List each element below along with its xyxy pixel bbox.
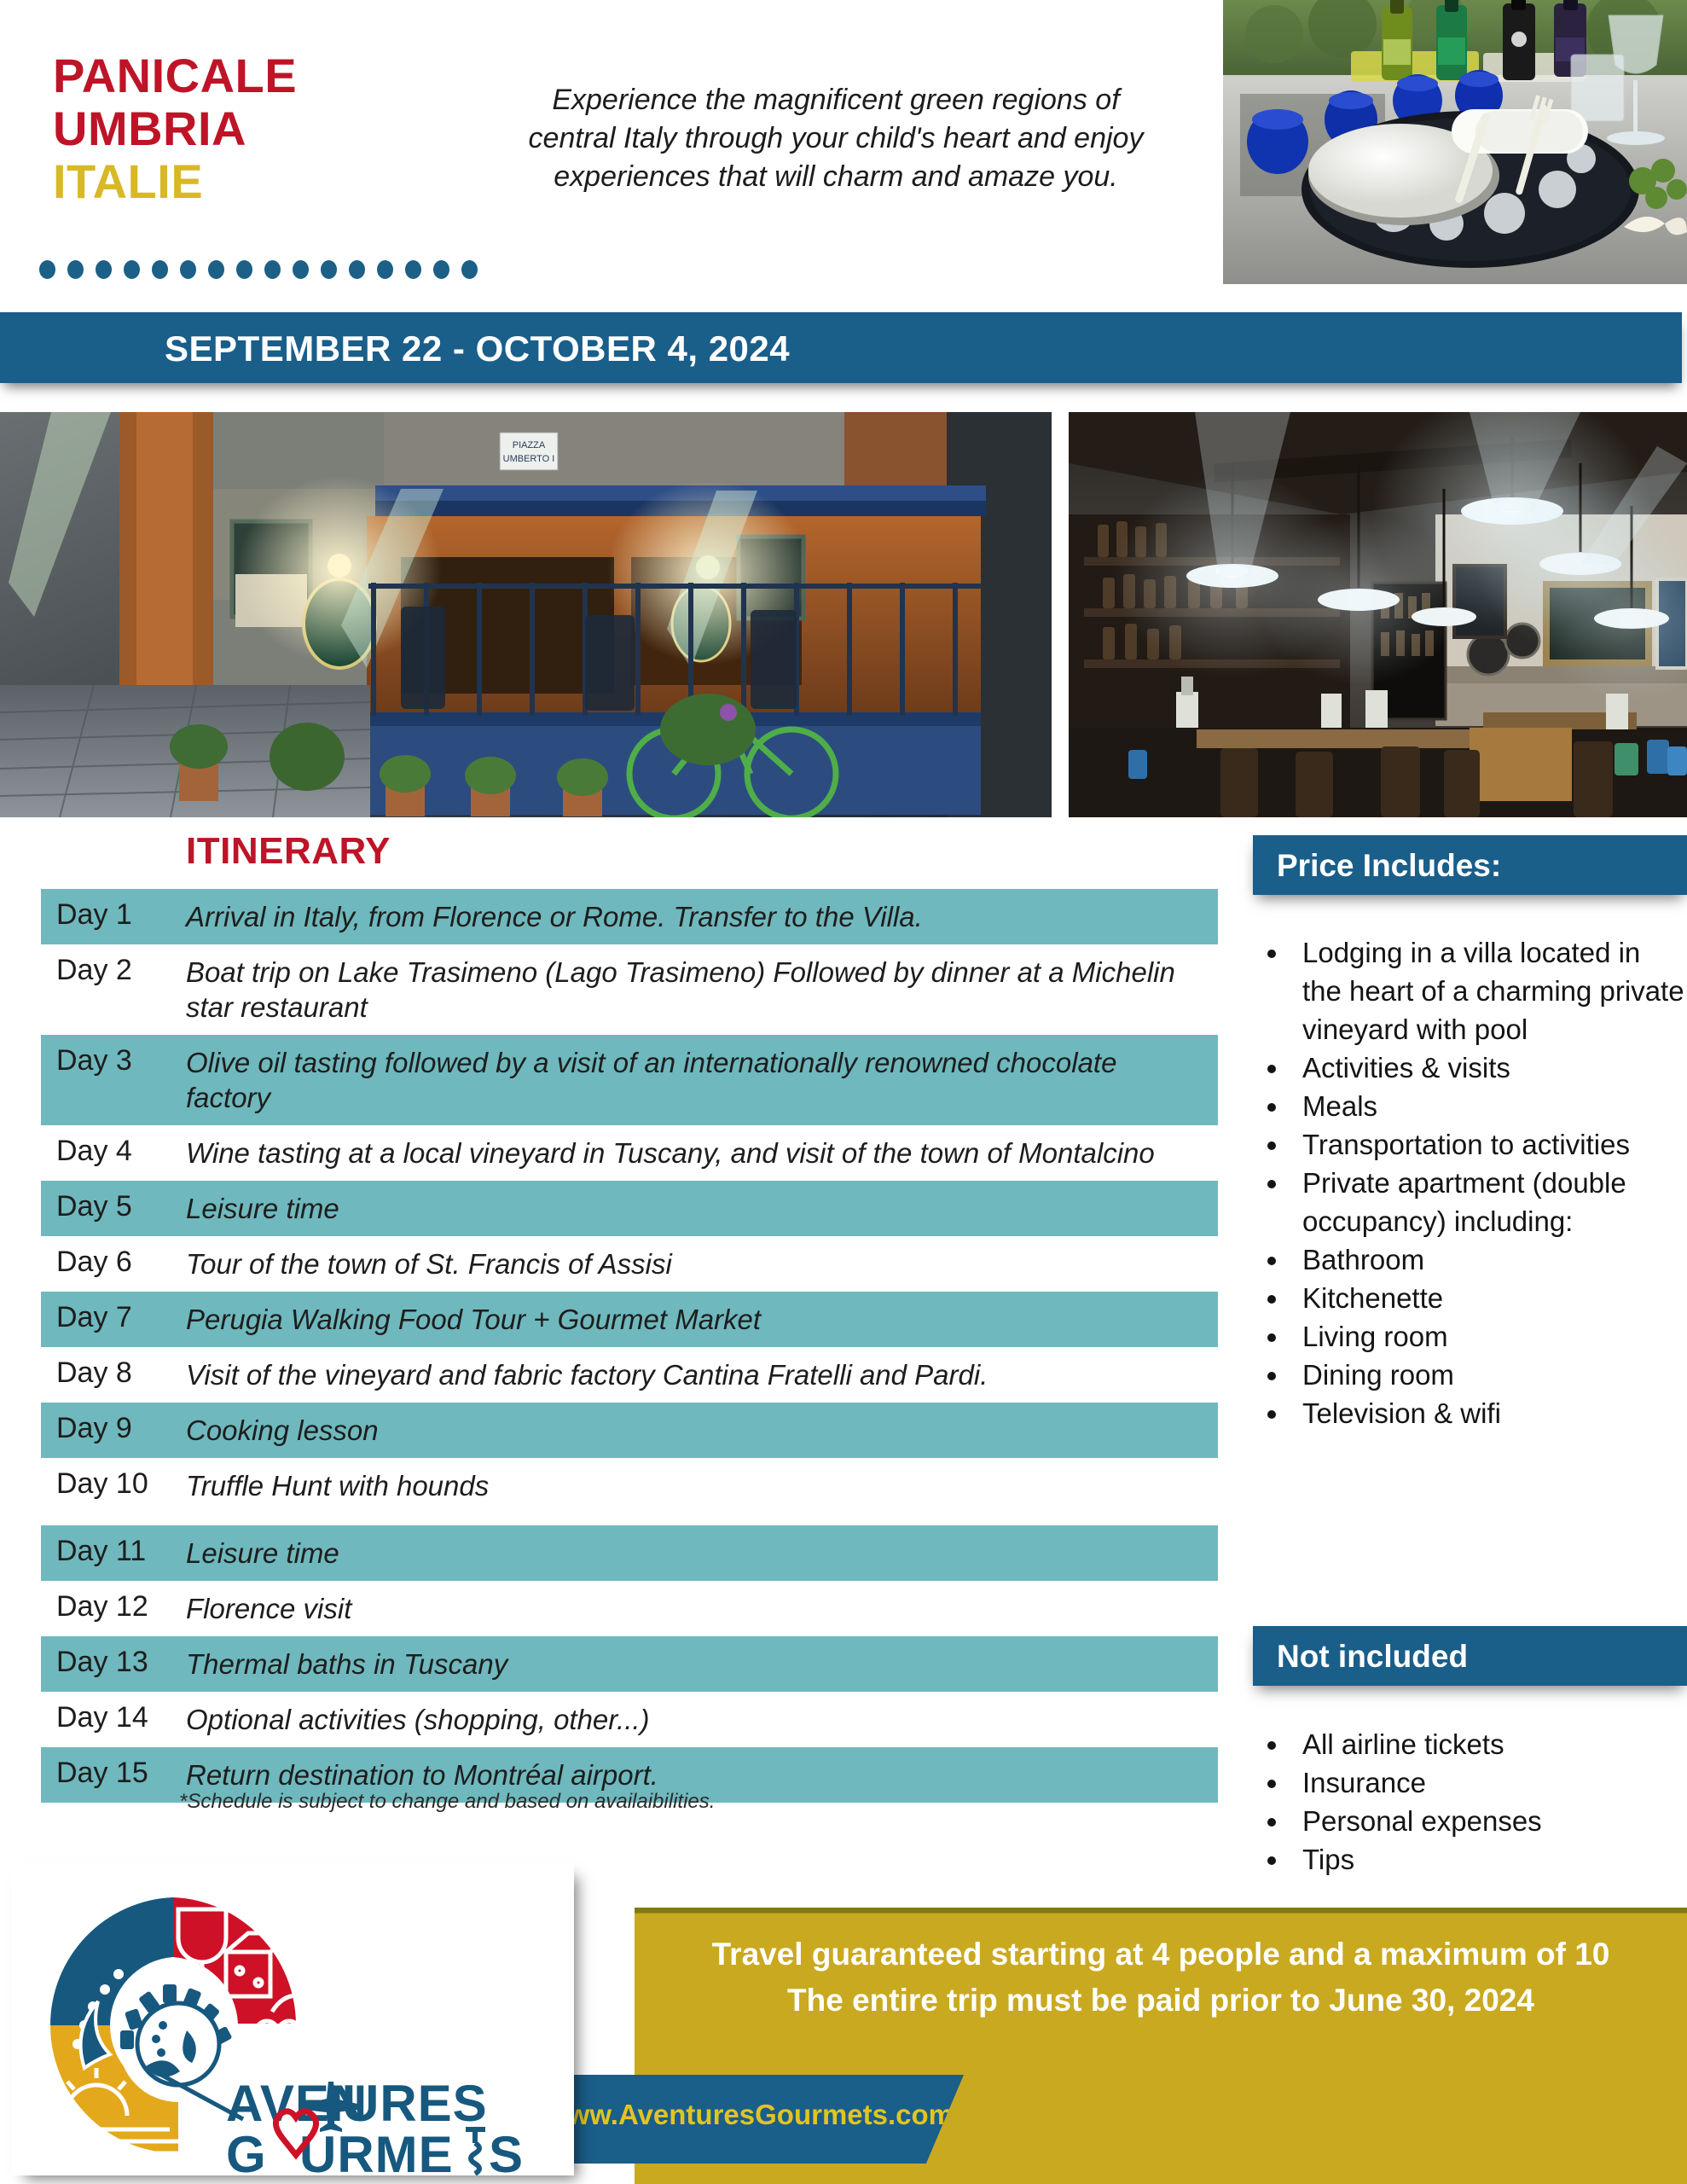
olive-oil-table-setting-illustration <box>1223 0 1687 284</box>
itinerary-day-label: Day 15 <box>41 1747 186 1799</box>
decorative-dot <box>349 260 365 279</box>
decorative-dot <box>67 260 84 279</box>
village-restaurant-exterior-photo: PIAZZA UMBERTO I <box>0 412 1052 817</box>
itinerary-day-description: Perugia Walking Food Tour + Gourmet Mark… <box>186 1292 1218 1347</box>
photo-strip: PIAZZA UMBERTO I <box>0 412 1687 817</box>
not-included-header: Not included <box>1253 1626 1687 1686</box>
itinerary-row: Day 10Truffle Hunt with hounds <box>41 1458 1218 1513</box>
itinerary-day-label: Day 2 <box>41 944 186 996</box>
itinerary-day-label: Day 6 <box>41 1236 186 1288</box>
price-includes-item: Kitchenette <box>1290 1279 1687 1317</box>
date-banner: SEPTEMBER 22 - OCTOBER 4, 2024 <box>0 312 1682 383</box>
itinerary-row: Day 1Arrival in Italy, from Florence or … <box>41 889 1218 944</box>
logo-illustration: AVEN URES G URME S <box>11 1863 574 2175</box>
price-includes-item: Lodging in a villa located in the heart … <box>1290 933 1687 1048</box>
itinerary-row: Day 14Optional activities (shopping, oth… <box>41 1692 1218 1747</box>
itinerary-day-label: Day 11 <box>41 1525 186 1577</box>
decorative-dot-row <box>39 260 585 281</box>
itinerary-day-description: Thermal baths in Tuscany <box>186 1636 1218 1692</box>
itinerary-row: Day 11Leisure time <box>41 1525 1218 1581</box>
itinerary-day-description: Tour of the town of St. Francis of Assis… <box>186 1236 1218 1292</box>
not-included-item: Insurance <box>1290 1763 1687 1802</box>
price-includes-item: Activities & visits <box>1290 1048 1687 1087</box>
tagline: Experience the magnificent green regions… <box>512 81 1160 196</box>
aventures-gourmets-logo: AVEN URES G URME S <box>11 1863 574 2175</box>
itinerary-disclaimer: *Schedule is subject to change and based… <box>179 1790 715 1814</box>
guarantee-line-2: The entire trip must be paid prior to Ju… <box>635 1978 1687 2024</box>
itinerary-row: Day 12Florence visit <box>41 1581 1218 1636</box>
not-included-item: Personal expenses <box>1290 1802 1687 1840</box>
itinerary-day-label: Day 13 <box>41 1636 186 1688</box>
itinerary-day-label: Day 9 <box>41 1403 186 1455</box>
itinerary-row: Day 7Perugia Walking Food Tour + Gourmet… <box>41 1292 1218 1347</box>
itinerary-day-description: Leisure time <box>186 1525 1218 1581</box>
not-included-item: Tips <box>1290 1840 1687 1879</box>
guarantee-banner: Travel guaranteed starting at 4 people a… <box>635 1908 1687 2059</box>
itinerary-day-label: Day 4 <box>41 1125 186 1177</box>
price-includes-item: Living room <box>1290 1317 1687 1356</box>
decorative-dot <box>377 260 393 279</box>
price-includes-title: Price Includes: <box>1277 848 1501 884</box>
price-includes-item: Dining room <box>1290 1356 1687 1394</box>
website-banner[interactable]: www.AventuresGourmets.com <box>546 2075 964 2164</box>
price-includes-item: Meals <box>1290 1087 1687 1125</box>
date-banner-text: SEPTEMBER 22 - OCTOBER 4, 2024 <box>165 328 790 369</box>
itinerary-day-description: Arrival in Italy, from Florence or Rome.… <box>186 889 1218 944</box>
itinerary-day-description: Visit of the vineyard and fabric factory… <box>186 1347 1218 1403</box>
not-included-item: All airline tickets <box>1290 1725 1687 1763</box>
itinerary-day-description: Wine tasting at a local vineyard in Tusc… <box>186 1125 1218 1181</box>
price-includes-list: Lodging in a villa located in the heart … <box>1253 933 1687 1432</box>
price-includes-item: Television & wifi <box>1290 1394 1687 1432</box>
decorative-dot <box>180 260 196 279</box>
itinerary-day-label: Day 1 <box>41 889 186 941</box>
brochure-page: PANICALE UMBRIA ITALIE Experience the ma… <box>0 0 1687 2184</box>
decorative-dot <box>236 260 252 279</box>
itinerary-day-description: Optional activities (shopping, other...) <box>186 1692 1218 1747</box>
svg-text:UMBERTO I: UMBERTO I <box>503 454 555 464</box>
decorative-dot <box>208 260 224 279</box>
itinerary-day-label: Day 7 <box>41 1292 186 1344</box>
olive-oil-table-setting-photo <box>1223 0 1687 284</box>
itinerary-row: Day 8Visit of the vineyard and fabric fa… <box>41 1347 1218 1403</box>
itinerary-row-spacer <box>41 1513 1218 1525</box>
itinerary-day-label: Day 14 <box>41 1692 186 1744</box>
decorative-dot <box>152 260 168 279</box>
brand-line-panicale: PANICALE <box>53 49 297 102</box>
decorative-dot <box>264 260 281 279</box>
itinerary-day-description: Florence visit <box>186 1581 1218 1636</box>
itinerary-row: Day 6Tour of the town of St. Francis of … <box>41 1236 1218 1292</box>
restaurant-interior-photo <box>1069 412 1687 817</box>
decorative-dot <box>124 260 140 279</box>
decorative-dot <box>433 260 449 279</box>
logo-wordmark-gourmets: G <box>226 2126 267 2175</box>
itinerary-day-label: Day 10 <box>41 1458 186 1510</box>
decorative-dot <box>293 260 309 279</box>
itinerary-row: Day 2Boat trip on Lake Trasimeno (Lago T… <box>41 944 1218 1035</box>
itinerary-day-description: Cooking lesson <box>186 1403 1218 1458</box>
decorative-dot <box>39 260 55 279</box>
itinerary-row: Day 3Olive oil tasting followed by a vis… <box>41 1035 1218 1125</box>
price-includes-item: Private apartment (double occupancy) inc… <box>1290 1164 1687 1240</box>
price-includes-header: Price Includes: <box>1253 835 1687 895</box>
itinerary-title: ITINERARY <box>186 830 391 873</box>
itinerary-day-description: Boat trip on Lake Trasimeno (Lago Trasim… <box>186 944 1218 1035</box>
itinerary-row: Day 5Leisure time <box>41 1181 1218 1236</box>
website-url[interactable]: www.AventuresGourmets.com <box>546 2099 928 2131</box>
price-includes-item: Bathroom <box>1290 1240 1687 1279</box>
price-includes-item: Transportation to activities <box>1290 1125 1687 1164</box>
itinerary-day-label: Day 8 <box>41 1347 186 1399</box>
itinerary-day-description: Leisure time <box>186 1181 1218 1236</box>
village-restaurant-illustration: PIAZZA UMBERTO I <box>0 412 1052 817</box>
itinerary-rows: Day 1Arrival in Italy, from Florence or … <box>41 889 1218 1803</box>
corkscrew-icon <box>466 2129 485 2174</box>
itinerary-row: Day 13Thermal baths in Tuscany <box>41 1636 1218 1692</box>
not-included-title: Not included <box>1277 1639 1468 1675</box>
decorative-dot <box>461 260 478 279</box>
decorative-dot <box>405 260 421 279</box>
itinerary-day-description: Olive oil tasting followed by a visit of… <box>186 1035 1218 1125</box>
svg-text:URES: URES <box>342 2075 488 2132</box>
decorative-dot <box>96 260 112 279</box>
itinerary-row: Day 4Wine tasting at a local vineyard in… <box>41 1125 1218 1181</box>
svg-text:S: S <box>489 2126 524 2175</box>
itinerary-day-label: Day 12 <box>41 1581 186 1633</box>
guarantee-banner-text: Travel guaranteed starting at 4 people a… <box>635 1931 1687 2024</box>
brand-title-block: PANICALE UMBRIA ITALIE <box>53 49 297 208</box>
header: PANICALE UMBRIA ITALIE Experience the ma… <box>0 0 1687 294</box>
itinerary-day-label: Day 5 <box>41 1181 186 1233</box>
restaurant-interior-illustration <box>1069 412 1687 817</box>
itinerary-day-description: Truffle Hunt with hounds <box>186 1458 1218 1513</box>
not-included-list: All airline ticketsInsurancePersonal exp… <box>1253 1725 1687 1879</box>
itinerary-row: Day 9Cooking lesson <box>41 1403 1218 1458</box>
svg-text:URME: URME <box>299 2126 454 2175</box>
svg-text:PIAZZA: PIAZZA <box>513 440 546 450</box>
itinerary-day-label: Day 3 <box>41 1035 186 1087</box>
guarantee-line-1: Travel guaranteed starting at 4 people a… <box>635 1931 1687 1978</box>
brand-line-italie: ITALIE <box>53 155 297 208</box>
brand-line-umbria: UMBRIA <box>53 102 297 155</box>
decorative-dot <box>321 260 337 279</box>
